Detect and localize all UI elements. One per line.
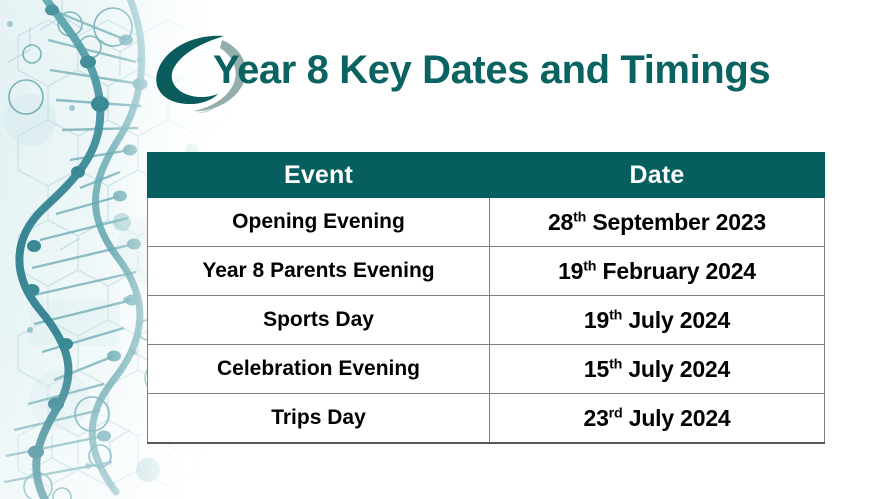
table-row: Celebration Evening 15th July 2024 xyxy=(148,345,825,394)
date-day: 19 xyxy=(584,307,609,333)
date-ordinal: th xyxy=(609,356,622,372)
cell-date: 15th July 2024 xyxy=(490,345,825,394)
key-dates-table: Event Date Opening Evening 28th Septembe… xyxy=(147,152,825,444)
table-row: Opening Evening 28th September 2023 xyxy=(148,198,825,247)
title-block: Year 8 Key Dates and Timings xyxy=(150,26,850,118)
date-day: 28 xyxy=(548,209,573,235)
date-ordinal: th xyxy=(583,258,596,274)
page-title: Year 8 Key Dates and Timings xyxy=(213,42,770,98)
cell-event: Celebration Evening xyxy=(148,345,490,394)
column-header-date: Date xyxy=(490,153,825,198)
date-rest: February 2024 xyxy=(596,258,756,284)
date-ordinal: rd xyxy=(609,405,623,421)
date-ordinal: th xyxy=(609,307,622,323)
date-rest: July 2024 xyxy=(622,307,730,333)
date-rest: July 2024 xyxy=(622,356,730,382)
date-day: 19 xyxy=(558,258,583,284)
date-day: 23 xyxy=(583,405,608,431)
cell-date: 19th February 2024 xyxy=(490,247,825,296)
date-rest: July 2024 xyxy=(623,405,731,431)
cell-event: Year 8 Parents Evening xyxy=(148,247,490,296)
date-day: 15 xyxy=(584,356,609,382)
table-header-row: Event Date xyxy=(148,153,825,198)
table-row: Trips Day 23rd July 2024 xyxy=(148,394,825,444)
cell-event: Trips Day xyxy=(148,394,490,444)
column-header-event: Event xyxy=(148,153,490,198)
cell-event: Opening Evening xyxy=(148,198,490,247)
cell-date: 19th July 2024 xyxy=(490,296,825,345)
cell-date: 28th September 2023 xyxy=(490,198,825,247)
date-ordinal: th xyxy=(573,209,586,225)
slide-canvas: Year 8 Key Dates and Timings Event Date … xyxy=(0,0,870,499)
date-rest: September 2023 xyxy=(586,209,766,235)
table-row: Sports Day 19th July 2024 xyxy=(148,296,825,345)
table-row: Year 8 Parents Evening 19th February 202… xyxy=(148,247,825,296)
cell-event: Sports Day xyxy=(148,296,490,345)
cell-date: 23rd July 2024 xyxy=(490,394,825,444)
